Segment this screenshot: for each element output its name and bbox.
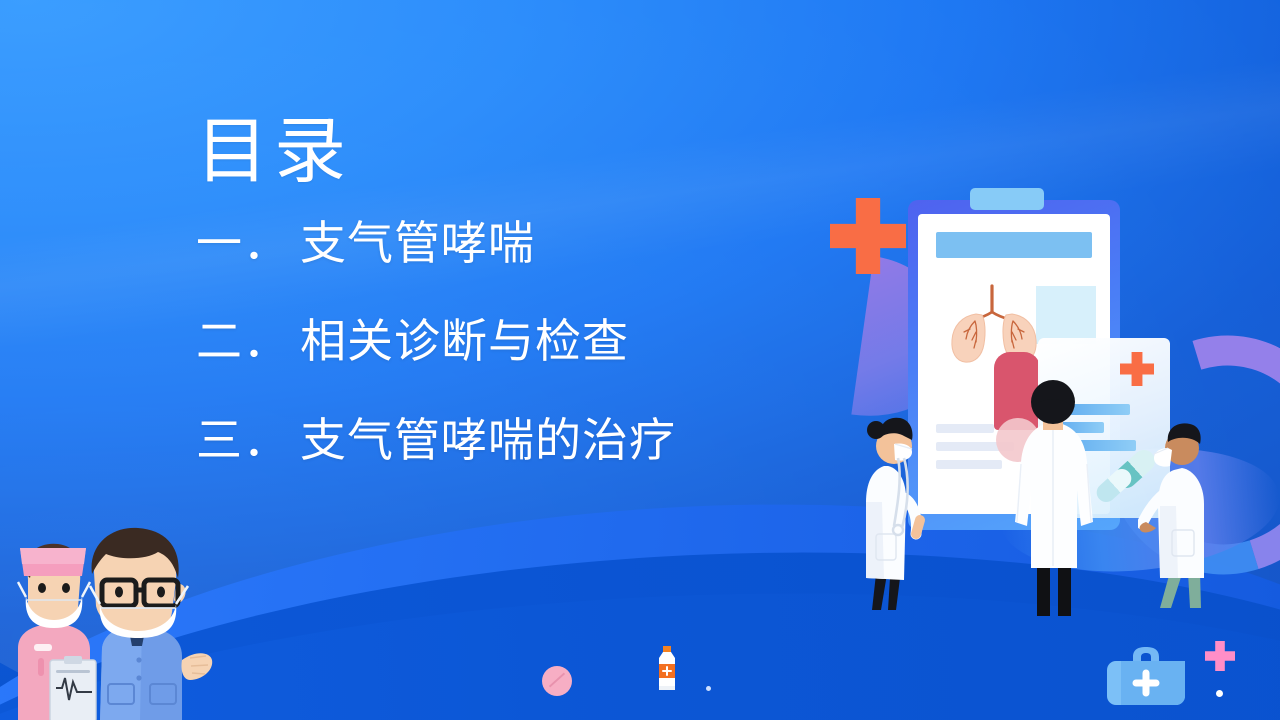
page-title: 目录 [196, 116, 352, 188]
clipboard-text-line [936, 460, 1002, 469]
toc-item-3-number: 三． [196, 413, 300, 467]
medical-illustration [820, 150, 1280, 720]
toc-item-3[interactable]: 三． 支气管哮喘的治疗 [196, 413, 816, 467]
toc-item-2-label: 相关诊断与检查 [300, 314, 629, 368]
slide-root: 目录 一． 支气管哮喘 二． 相关诊断与检查 三． 支气管哮喘的治疗 [0, 0, 1280, 720]
clipboard-text-line [936, 424, 994, 433]
clipboard-clamp-icon [970, 188, 1044, 210]
toc-item-3-label: 支气管哮喘的治疗 [300, 413, 676, 467]
toc-item-1[interactable]: 一． 支气管哮喘 [196, 216, 816, 270]
doctor-center-figure [1005, 380, 1101, 620]
cartoon-medical-couple [0, 520, 215, 720]
medicine-bottle-icon [653, 646, 681, 692]
white-dot-icon [1216, 690, 1223, 697]
pink-tablet-icon [542, 666, 572, 696]
toc-item-1-label: 支气管哮喘 [300, 216, 535, 270]
small-dot-icon [706, 686, 711, 691]
toc-item-2[interactable]: 二． 相关诊断与检查 [196, 314, 816, 368]
toc-item-2-number: 二． [196, 314, 300, 368]
clipboard-header-bar [936, 232, 1092, 258]
card-cross-icon [1120, 352, 1154, 386]
toc-list: 一． 支气管哮喘 二． 相关诊断与检查 三． 支气管哮喘的治疗 [196, 216, 816, 511]
toc-item-1-number: 一． [196, 216, 300, 270]
first-aid-kit-icon [1105, 645, 1187, 707]
doctor-female-figure [854, 402, 930, 612]
doctor-right-figure [1138, 412, 1230, 612]
